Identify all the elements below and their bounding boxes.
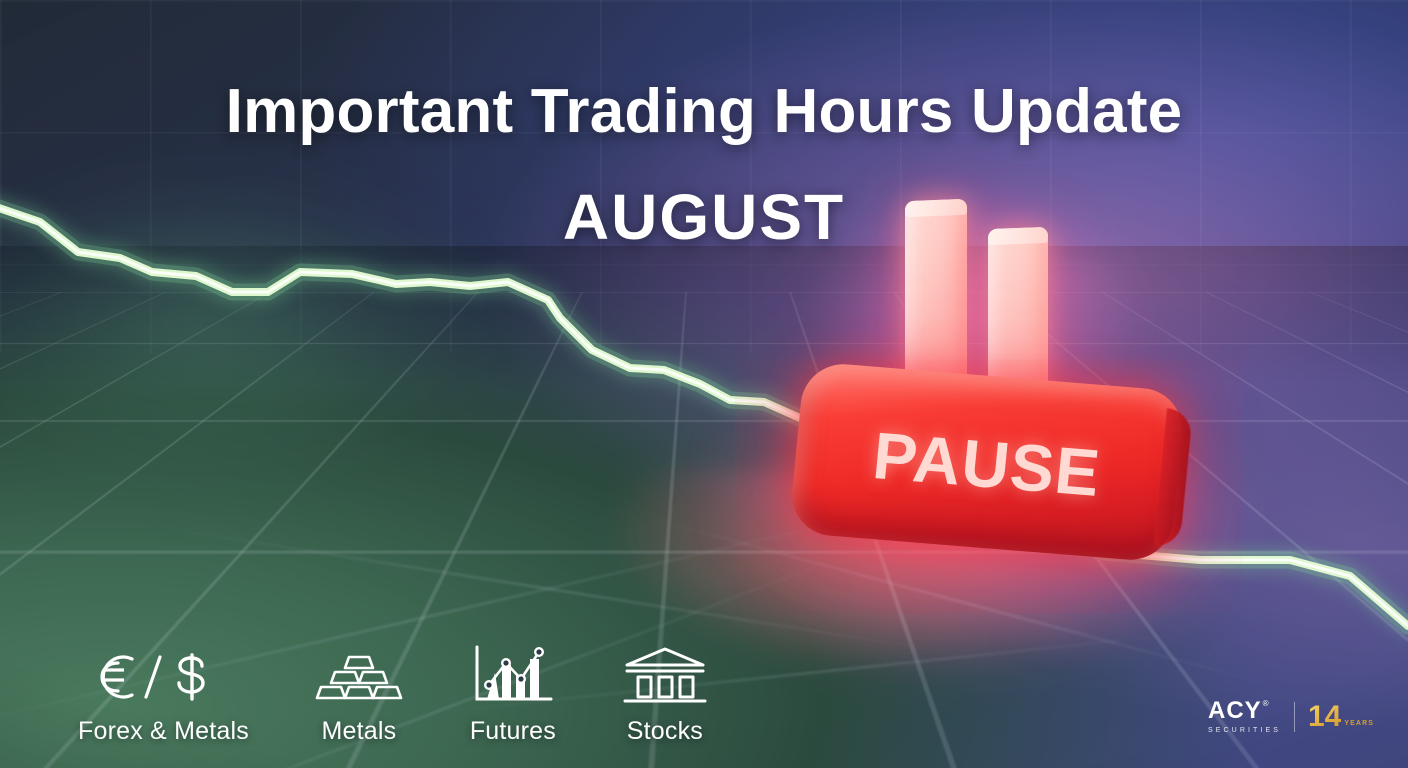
page-title: Important Trading Hours Update	[0, 76, 1408, 147]
asset-class-label: Futures	[470, 717, 556, 746]
acy-tagline: SECURITIES	[1208, 727, 1281, 734]
trading-hours-banner: Important Trading Hours Update AUGUST PA…	[0, 0, 1408, 768]
asset-class-label: Stocks	[627, 717, 703, 746]
anniversary-word: YEARS	[1344, 720, 1374, 727]
acy-name: ACY	[1208, 699, 1262, 723]
anniversary-badge: 14 YEARS	[1308, 703, 1374, 730]
asset-class-label: Metals	[321, 717, 396, 746]
bank-building-icon	[621, 643, 709, 705]
logo-divider	[1294, 702, 1295, 732]
asset-class-metals: Metals	[313, 643, 405, 746]
pause-bar-top-face	[905, 199, 967, 217]
asset-class-forex-metals: Forex & Metals	[78, 643, 249, 746]
registered-mark: ®	[1263, 700, 1269, 708]
euro-dollar-icon	[88, 643, 238, 705]
asset-class-stocks: Stocks	[621, 643, 709, 746]
asset-class-futures: Futures	[469, 643, 557, 746]
pause-graphic: PAUSE	[780, 180, 1200, 600]
pause-bar-top-face	[988, 227, 1048, 245]
asset-class-row: Forex & Metals Metals	[78, 643, 709, 746]
pause-slab: PAUSE	[788, 361, 1186, 563]
bar-chart-line-icon	[469, 643, 557, 705]
brand-logo: ACY ® SECURITIES 14 YEARS	[1208, 699, 1374, 734]
anniversary-number: 14	[1308, 703, 1341, 730]
asset-class-label: Forex & Metals	[78, 717, 249, 746]
acy-logo: ACY ® SECURITIES	[1208, 699, 1281, 734]
acy-wordmark: ACY ®	[1208, 699, 1269, 723]
gold-bars-icon	[313, 643, 405, 705]
